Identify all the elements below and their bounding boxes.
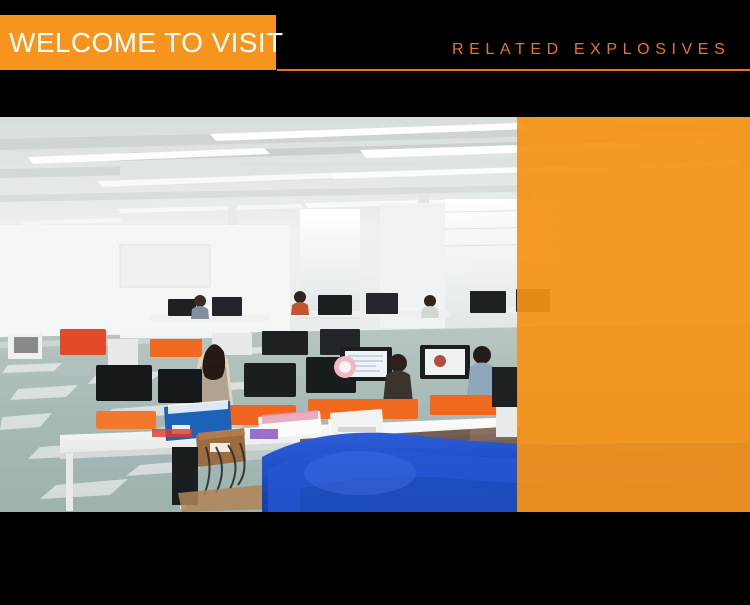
welcome-to-visit-label: WELCOME TO VISIT xyxy=(0,29,284,57)
welcome-badge: WELCOME TO VISIT xyxy=(0,15,276,70)
header-bar: WELCOME TO VISIT RELATED EXPLOSIVES xyxy=(0,0,750,117)
page-root: WELCOME TO VISIT RELATED EXPLOSIVES xyxy=(0,0,750,605)
orange-overlay-panel: welcome to WJM xyxy=(517,117,750,512)
hero-photo-band: welcome to WJM WALK INTO WEIJIAMEI TOGET… xyxy=(0,117,750,512)
related-explosives-label: RELATED EXPLOSIVES xyxy=(452,42,728,58)
footer-area xyxy=(0,512,750,605)
header-divider-rule xyxy=(277,69,750,71)
